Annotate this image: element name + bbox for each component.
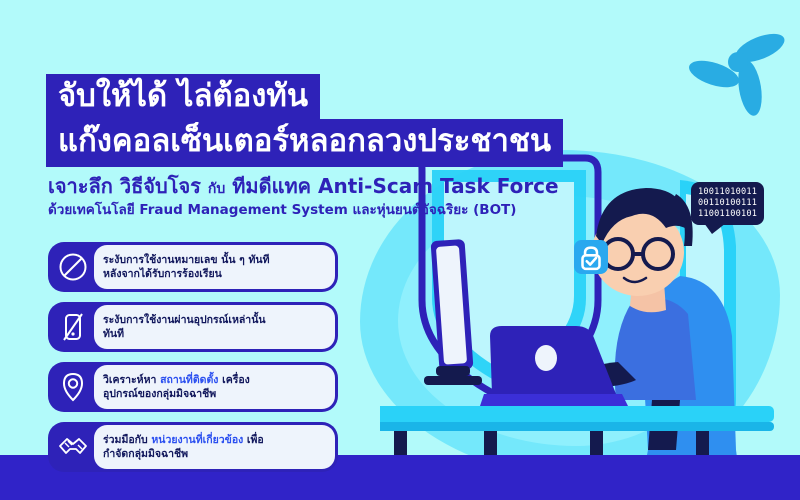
padlock-check-icon xyxy=(574,240,608,274)
list-item-text-line-2: อุปกรณ์ของกลุ่มมิจฉาชีพ xyxy=(103,388,216,400)
laptop-keyboard-deck xyxy=(480,394,628,406)
list-item-text-post: เครื่อง xyxy=(218,374,249,386)
list-item[interactable]: วิเคราะห์หา สถานที่ติดตั้ง เครื่อง อุปกร… xyxy=(48,362,338,412)
list-item-body: ระงับการใช้งานหมายเลข นั้น ๆ ทันที หลังจ… xyxy=(94,245,335,289)
headline-line-1: จับให้ได้ ไล่ต้องทัน xyxy=(46,74,320,121)
list-item-highlight: สถานที่ติดตั้ง xyxy=(160,374,218,386)
binary-line-1: 10011010011 xyxy=(698,187,757,198)
list-item-text: วิเคราะห์หา สถานที่ติดตั้ง เครื่อง อุปกร… xyxy=(103,373,250,401)
subtitle-line-2: ด้วยเทคโนโลยี Fraud Management System แล… xyxy=(48,202,648,220)
phone-disabled-icon xyxy=(56,310,90,344)
list-item[interactable]: ระงับการใช้งานหมายเลข นั้น ๆ ทันที หลังจ… xyxy=(48,242,338,292)
list-item[interactable]: ระงับการใช้งานผ่านอุปกรณ์เหล่านั้น ทันที xyxy=(48,302,338,352)
binary-speech-bubble: 10011010011 00110100111 11001100101 xyxy=(691,182,764,225)
subtitle-line-1: เจาะลึก วิธีจับโจร กับ ทีมดีแทค Anti-Sca… xyxy=(48,174,648,198)
prohibition-block-icon xyxy=(56,250,90,284)
telenor-propeller-logo xyxy=(688,26,792,122)
measure-list: ระงับการใช้งานหมายเลข นั้น ๆ ทันที หลังจ… xyxy=(48,242,338,482)
list-item-text-line-2: ทันที xyxy=(103,328,124,340)
list-item-text: ระงับการใช้งานหมายเลข นั้น ๆ ทันที หลังจ… xyxy=(103,253,270,281)
subtitle-group: เจาะลึก วิธีจับโจร กับ ทีมดีแทค Anti-Sca… xyxy=(48,174,648,220)
list-item-highlight: หน่วยงานที่เกี่ยวข้อง xyxy=(151,434,243,446)
list-item-text-line-2: หลังจากได้รับการร้องเรียน xyxy=(103,268,222,280)
list-item-text-line-1: ระงับการใช้งานผ่านอุปกรณ์เหล่านั้น xyxy=(103,314,266,326)
infographic-canvas: จับให้ได้ ไล่ต้องทัน แก๊งคอลเซ็นเตอร์หลอ… xyxy=(0,0,800,500)
list-item-body: วิเคราะห์หา สถานที่ติดตั้ง เครื่อง อุปกร… xyxy=(94,365,335,409)
location-pin-icon xyxy=(56,370,90,404)
binary-line-3: 11001100101 xyxy=(698,209,757,220)
character-shirt xyxy=(615,298,696,400)
list-item-text-pre: วิเคราะห์หา xyxy=(103,374,160,386)
subtitle-part-c: ทีมดีแทค Anti-Scam Task Force xyxy=(232,174,558,198)
page-title: จับให้ได้ ไล่ต้องทัน แก๊งคอลเซ็นเตอร์หลอ… xyxy=(46,74,666,167)
headline-line-2: แก๊งคอลเซ็นเตอร์หลอกลวงประชาชน xyxy=(46,119,563,166)
subtitle-part-b: กับ xyxy=(208,181,225,197)
list-item-body: ระงับการใช้งานผ่านอุปกรณ์เหล่านั้น ทันที xyxy=(94,305,335,349)
list-item-text: ร่วมมือกับ หน่วยงานที่เกี่ยวข้อง เพื่อ ก… xyxy=(103,433,264,461)
list-item-text-post: เพื่อ xyxy=(243,434,263,446)
list-item-text-pre: ร่วมมือกับ xyxy=(103,434,151,446)
handshake-icon xyxy=(56,430,90,464)
binary-line-2: 00110100111 xyxy=(698,198,757,209)
laptop-logo xyxy=(535,345,557,371)
subtitle-part-a: เจาะลึก วิธีจับโจร xyxy=(48,174,201,198)
list-item-text: ระงับการใช้งานผ่านอุปกรณ์เหล่านั้น ทันที xyxy=(103,313,266,341)
list-item-body: ร่วมมือกับ หน่วยงานที่เกี่ยวข้อง เพื่อ ก… xyxy=(94,425,335,469)
bubble-tail xyxy=(704,223,726,234)
list-item-text-line-2: กำจัดกลุ่มมิจฉาชีพ xyxy=(103,448,188,460)
list-item-text-line-1: ระงับการใช้งานหมายเลข นั้น ๆ ทันที xyxy=(103,254,270,266)
list-item[interactable]: ร่วมมือกับ หน่วยงานที่เกี่ยวข้อง เพื่อ ก… xyxy=(48,422,338,472)
